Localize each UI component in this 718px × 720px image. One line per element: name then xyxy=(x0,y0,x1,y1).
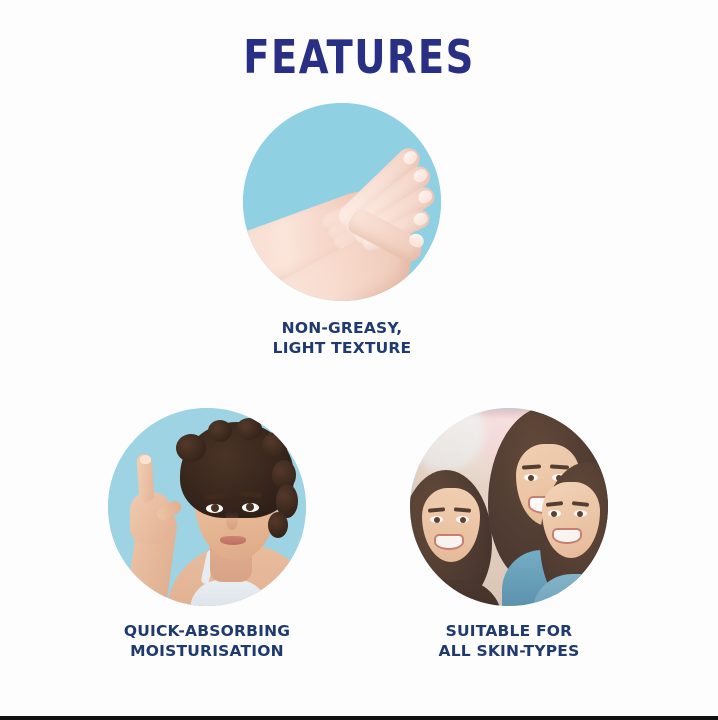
smile xyxy=(554,530,580,542)
pupil xyxy=(246,503,254,511)
nose xyxy=(226,512,238,530)
feature-image-friends xyxy=(410,408,608,606)
pupil xyxy=(551,511,557,517)
feature-caption-quick-absorbing: QUICK-ABSORBING MOISTURISATION xyxy=(108,622,306,662)
feature-graphic: FEATURES xyxy=(0,0,718,720)
hair-curl xyxy=(208,420,232,442)
feature-card-non-greasy: NON-GREASY, LIGHT TEXTURE xyxy=(243,103,441,359)
torso xyxy=(532,574,608,606)
fingernail xyxy=(401,148,419,166)
hair-curl xyxy=(236,418,262,440)
hands-illustration xyxy=(243,103,441,301)
woman-illustration xyxy=(108,408,306,606)
pupil xyxy=(434,517,440,523)
hair-curl xyxy=(268,512,288,538)
pupil xyxy=(577,511,583,517)
hair-curl xyxy=(176,434,206,462)
friend-right xyxy=(530,428,608,606)
feature-card-all-skin-types: SUITABLE FOR ALL SKIN-TYPES xyxy=(410,408,608,662)
pupil xyxy=(211,504,219,512)
lips xyxy=(220,536,246,545)
feature-caption-non-greasy: NON-GREASY, LIGHT TEXTURE xyxy=(243,319,441,359)
feature-image-hands xyxy=(243,103,441,301)
hair-curl xyxy=(262,432,288,458)
bottom-edge-rule xyxy=(0,716,718,720)
friends-illustration xyxy=(410,408,608,606)
feature-card-quick-absorbing: QUICK-ABSORBING MOISTURISATION xyxy=(108,408,306,662)
feature-caption-all-skin-types: SUITABLE FOR ALL SKIN-TYPES xyxy=(410,622,608,662)
fingernail xyxy=(416,188,434,206)
fingernail xyxy=(140,455,151,464)
fingernail xyxy=(411,167,429,185)
feature-image-woman xyxy=(108,408,306,606)
page-title: FEATURES xyxy=(25,30,693,84)
fingernail xyxy=(412,211,430,228)
